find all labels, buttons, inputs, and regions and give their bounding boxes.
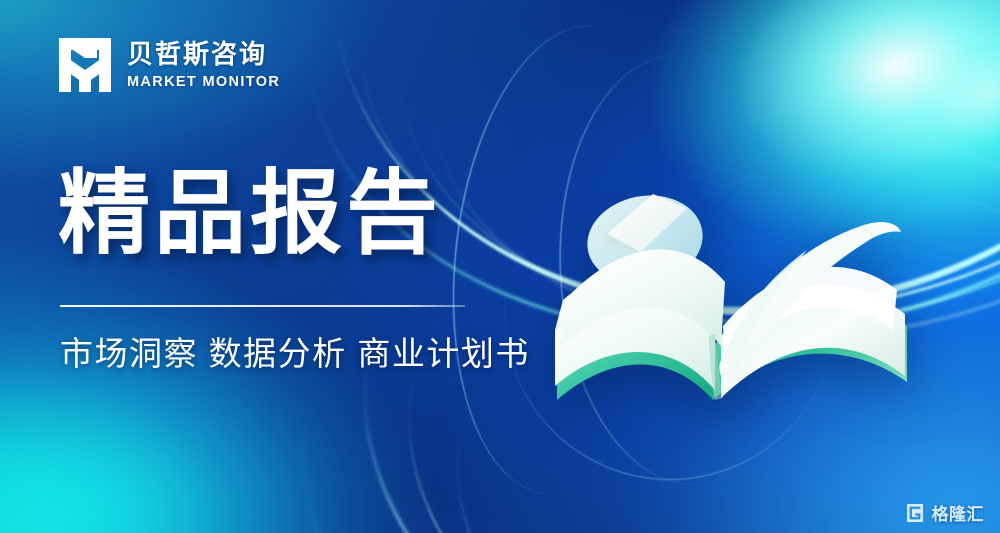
- open-book-illustration: [545, 150, 945, 450]
- gelonghui-g-logo-icon: [905, 503, 925, 523]
- watermark-text: 格隆汇: [932, 500, 985, 525]
- report-banner: 贝哲斯咨询 MARKET MONITOR 精品报告 市场洞察 数据分析 商业计划…: [0, 0, 1000, 533]
- brand-logo[interactable]: 贝哲斯咨询 MARKET MONITOR: [57, 36, 280, 94]
- brand-name-cn: 贝哲斯咨询: [127, 40, 280, 69]
- title-divider: [60, 305, 465, 307]
- brand-name-en: MARKET MONITOR: [127, 74, 280, 91]
- page-title: 精品报告: [58, 168, 442, 260]
- market-monitor-m-logo-icon: [57, 36, 113, 94]
- brand-wordmark: 贝哲斯咨询 MARKET MONITOR: [127, 40, 280, 91]
- watermark: 格隆汇: [905, 500, 985, 525]
- page-subtitle: 市场洞察 数据分析 商业计划书: [60, 330, 530, 378]
